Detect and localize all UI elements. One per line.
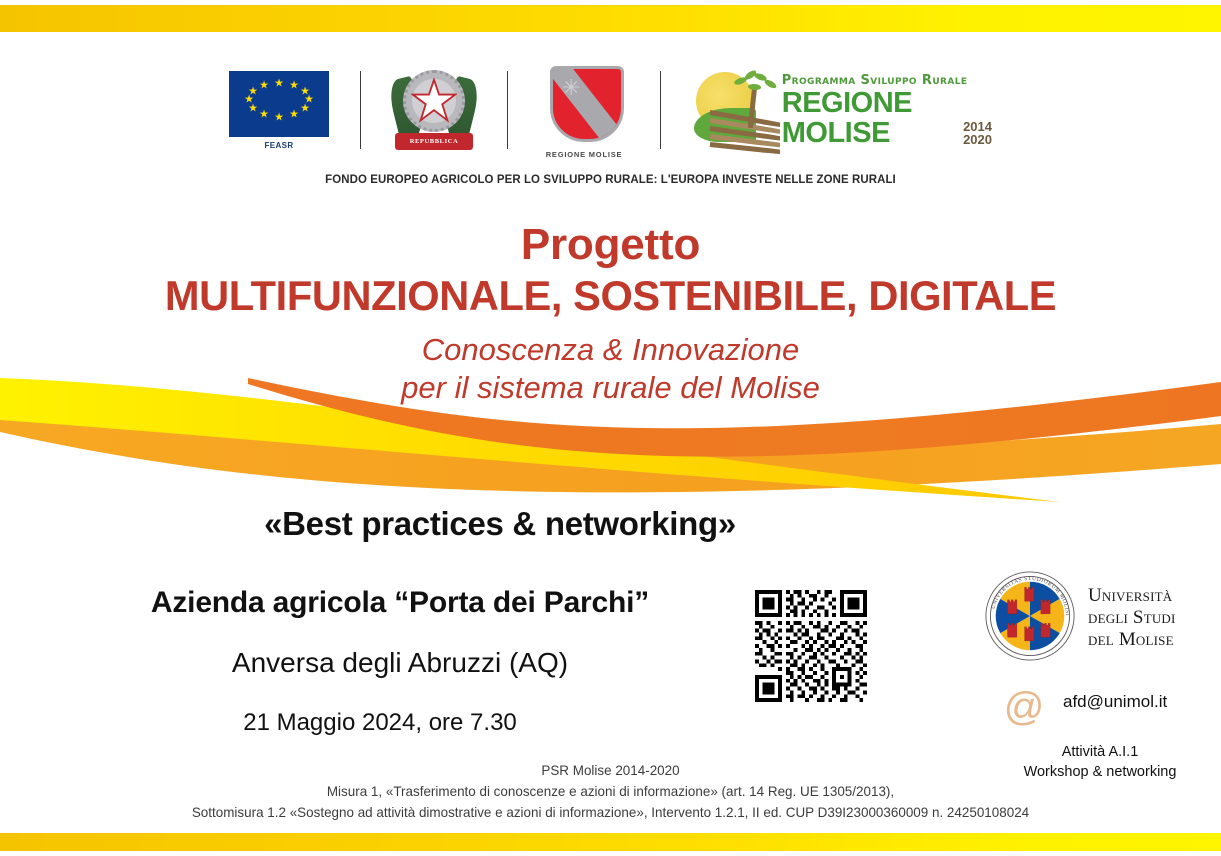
regione-molise-label: REGIONE MOLISE [539, 150, 629, 159]
psr-line2: REGIONE MOLISE [782, 88, 960, 148]
university-name-line2: degli Studi [1088, 607, 1221, 629]
eu-stars: ★ ★ ★ ★ ★ ★ ★ ★ ★ ★ ★ ★ [229, 71, 329, 137]
event-venue: Azienda agricola “Porta dei Parchi” [60, 586, 740, 620]
page-title: MULTIFUNZIONALE, SOSTENIBILE, DIGITALE [6, 270, 1215, 322]
footer-fineprint: PSR Molise 2014-2020 Misura 1, «Trasferi… [24, 760, 1196, 823]
repubblica-ribbon: REPUBBLICA ITALIANA [395, 133, 473, 150]
universita-del-molise-seal: UNIVERSITAS STUDIORUM MOLISII [985, 571, 1075, 661]
event-theme: «Best practices & networking» [0, 505, 1000, 543]
footer-line1: PSR Molise 2014-2020 [24, 760, 1196, 781]
project-subtitle-line1: Conoscenza & Innovazione [0, 331, 1221, 369]
at-sign-icon: @ [1002, 685, 1046, 729]
italian-star-icon [411, 78, 457, 124]
activity-line1: Attività A.I.1 [940, 742, 1221, 762]
regione-molise-shield-icon: ✳ REGIONE MOLISE [539, 64, 629, 156]
psr-regione-molise-logo: Programma Sviluppo Rurale REGIONE MOLISE… [692, 62, 992, 158]
funding-statement: FONDO EUROPEO AGRICOLO PER LO SVILUPPO R… [37, 172, 1185, 186]
eu-flag-icon: ★ ★ ★ ★ ★ ★ ★ ★ ★ ★ ★ ★ [229, 71, 329, 137]
logo-divider [360, 71, 361, 149]
eu-flag-logo: ★ ★ ★ ★ ★ ★ ★ ★ ★ ★ ★ ★ FEASR [229, 71, 329, 150]
university-name-line3: del Molise [1088, 629, 1221, 651]
plowed-field-shape [710, 110, 780, 150]
event-town: Anversa degli Abruzzi (AQ) [60, 647, 740, 679]
footer-line2: Misura 1, «Trasferimento di conoscenze e… [24, 781, 1196, 802]
psr-landscape-icon [692, 64, 780, 156]
logo-divider [507, 71, 508, 149]
decorative-swoosh [0, 378, 1221, 518]
repubblica-italiana-logo: REPUBBLICA ITALIANA [392, 66, 476, 154]
top-decorative-band [0, 5, 1221, 32]
logo-divider [660, 71, 661, 149]
footer-line3: Sottomisura 1.2 «Sostegno ad attività di… [24, 802, 1196, 823]
psr-year-to: 2020 [963, 133, 992, 146]
bottom-decorative-band [0, 833, 1221, 851]
psr-year-from: 2014 [963, 120, 992, 133]
psr-wordmark: Programma Sviluppo Rurale REGIONE MOLISE… [782, 73, 992, 148]
event-datetime: 21 Maggio 2024, ore 7.30 [60, 709, 700, 737]
eight-point-star-icon: ✳ [562, 77, 580, 99]
tree-foliage-shape [734, 72, 778, 98]
feasr-label: FEASR [264, 141, 293, 150]
psr-logo-block: Programma Sviluppo Rurale REGIONE MOLISE… [692, 62, 992, 158]
institutional-logo-bar: ★ ★ ★ ★ ★ ★ ★ ★ ★ ★ ★ ★ FEASR [0, 55, 1221, 165]
repubblica-italiana-emblem-icon: REPUBBLICA ITALIANA [392, 66, 476, 154]
poster-canvas: ★ ★ ★ ★ ★ ★ ★ ★ ★ ★ ★ ★ FEASR [0, 0, 1221, 856]
shield-body: ✳ [550, 66, 624, 142]
contact-email[interactable]: afd@unimol.it [1063, 692, 1167, 712]
project-eyebrow: Progetto [0, 219, 1221, 271]
psr-line1: Programma Sviluppo Rurale [782, 73, 992, 88]
university-name: Università degli Studi del Molise [1088, 585, 1221, 651]
university-name-line1: Università [1088, 585, 1221, 607]
regione-molise-logo: ✳ REGIONE MOLISE [539, 64, 629, 156]
qr-code[interactable] [755, 590, 867, 702]
